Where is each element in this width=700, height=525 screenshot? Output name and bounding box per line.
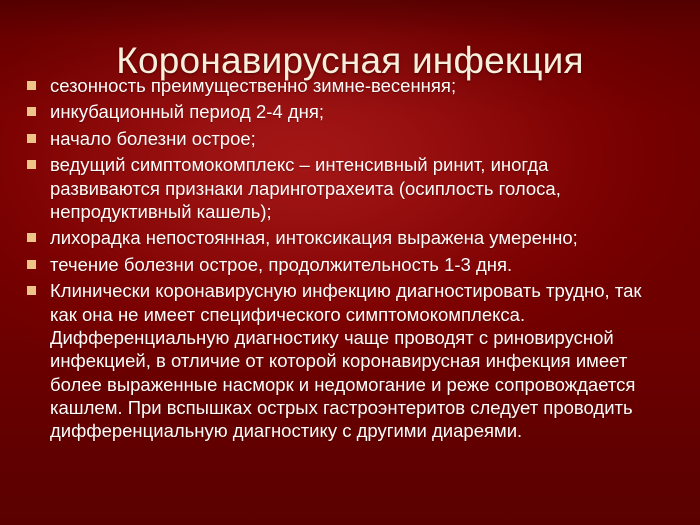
list-item: течение болезни острое, продолжительност…	[22, 253, 650, 276]
list-item: лихорадка непостоянная, интоксикация выр…	[22, 226, 650, 249]
slide-content: Коронавирусная инфекция сезонность преим…	[0, 0, 700, 525]
square-bullet-icon	[27, 107, 36, 116]
square-bullet-icon	[27, 260, 36, 269]
list-item-text: течение болезни острое, продолжительност…	[50, 253, 650, 276]
list-item: начало болезни острое;	[22, 127, 650, 150]
bullet-list: сезонность преимущественно зимне-весення…	[22, 74, 650, 446]
list-item: ведущий симптомокомплекс – интенсивный р…	[22, 153, 650, 223]
list-item-text: сезонность преимущественно зимне-весення…	[50, 74, 650, 97]
list-item-text: лихорадка непостоянная, интоксикация выр…	[50, 226, 650, 249]
square-bullet-icon	[27, 134, 36, 143]
presentation-slide: Коронавирусная инфекция сезонность преим…	[0, 0, 700, 525]
list-item: Клинически коронавирусную инфекцию диагн…	[22, 279, 650, 443]
list-item-text: ведущий симптомокомплекс – интенсивный р…	[50, 153, 598, 223]
square-bullet-icon	[27, 286, 36, 295]
list-item-text: инкубационный период 2-4 дня;	[50, 100, 650, 123]
list-item-text: начало болезни острое;	[50, 127, 650, 150]
list-item: сезонность преимущественно зимне-весення…	[22, 74, 650, 97]
list-item: инкубационный период 2-4 дня;	[22, 100, 650, 123]
square-bullet-icon	[27, 233, 36, 242]
list-item-text: Клинически коронавирусную инфекцию диагн…	[50, 279, 650, 443]
square-bullet-icon	[27, 160, 36, 169]
square-bullet-icon	[27, 81, 36, 90]
